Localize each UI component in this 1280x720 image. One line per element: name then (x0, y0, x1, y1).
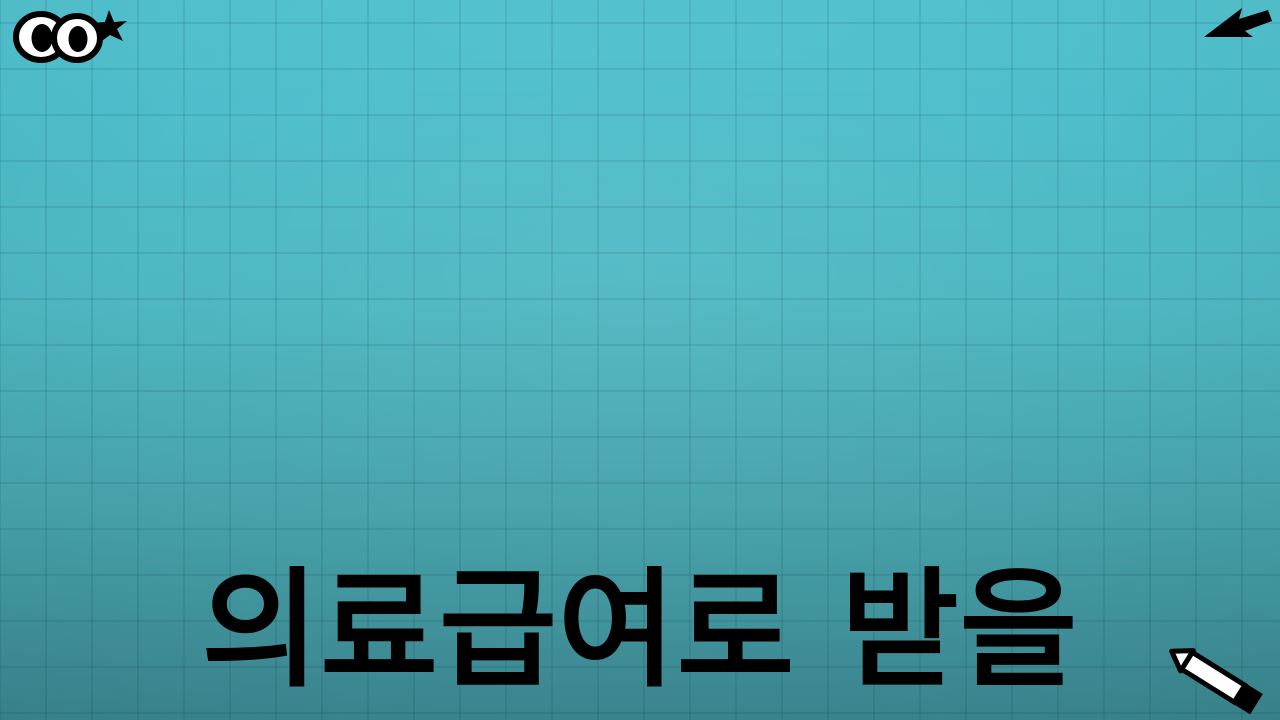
page-title: 의료급여로 받을 수 있는 지원 (0, 176, 1280, 720)
slide-canvas: 의료급여로 받을 수 있는 지원 (0, 0, 1280, 720)
eye-right-icon (54, 16, 100, 60)
headline-line-1: 의료급여로 받을 (0, 540, 1280, 720)
googly-eyes-star-logo (8, 4, 128, 68)
arrow-cursor-icon (1198, 2, 1274, 58)
